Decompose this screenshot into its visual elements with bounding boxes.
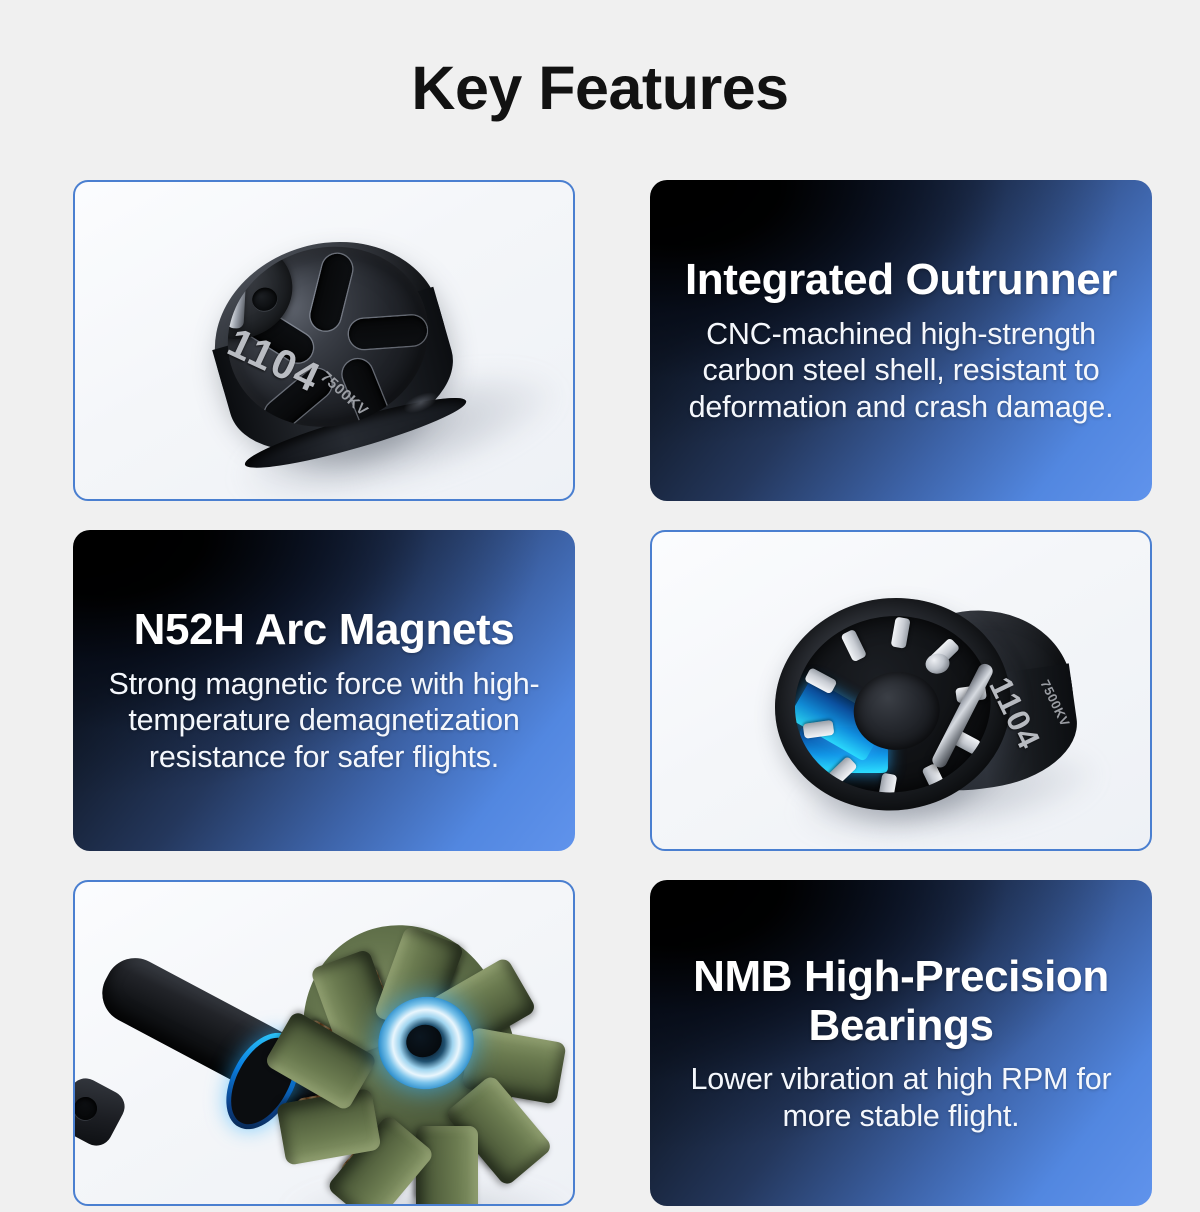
page-title: Key Features: [0, 0, 1200, 119]
image-card: 1104 7500KV: [73, 180, 575, 501]
feature-title: N52H Arc Magnets: [134, 605, 515, 654]
feature-card-stator-windings: [73, 880, 575, 1206]
stator-body: [266, 901, 566, 1197]
gradient-card: Integrated Outrunner CNC-machined high-s…: [650, 180, 1152, 501]
image-card: 1104 7500KV: [650, 530, 1152, 851]
feature-card-n52h-arc-magnets: N52H Arc Magnets Strong magnetic force w…: [73, 530, 575, 851]
feature-description: Lower vibration at high RPM for more sta…: [672, 1061, 1130, 1134]
feature-card-nmb-bearings: NMB High-Precision Bearings Lower vibrat…: [650, 880, 1152, 1206]
feature-title: Integrated Outrunner: [685, 255, 1117, 304]
gradient-card: N52H Arc Magnets Strong magnetic force w…: [73, 530, 575, 851]
motor-bottom-illustration: 1104 7500KV: [652, 532, 1150, 849]
feature-card-integrated-outrunner: Integrated Outrunner CNC-machined high-s…: [650, 180, 1152, 501]
feature-grid: 1104 7500KV Integrated Outrunner CNC-mac…: [73, 180, 1127, 1206]
feature-description: CNC-machined high-strength carbon steel …: [672, 316, 1130, 426]
shaft-cap: [229, 223, 261, 239]
image-card: [73, 880, 575, 1206]
feature-card-motor-top-view: 1104 7500KV: [73, 180, 575, 501]
gradient-card: NMB High-Precision Bearings Lower vibrat…: [650, 880, 1152, 1206]
feature-title: NMB High-Precision Bearings: [672, 952, 1130, 1051]
feature-card-motor-bottom-view: 1104 7500KV: [650, 530, 1152, 851]
feature-description: Strong magnetic force with high-temperat…: [95, 666, 553, 776]
stator-illustration: [75, 882, 573, 1204]
motor-top-illustration: 1104 7500KV: [75, 182, 573, 499]
